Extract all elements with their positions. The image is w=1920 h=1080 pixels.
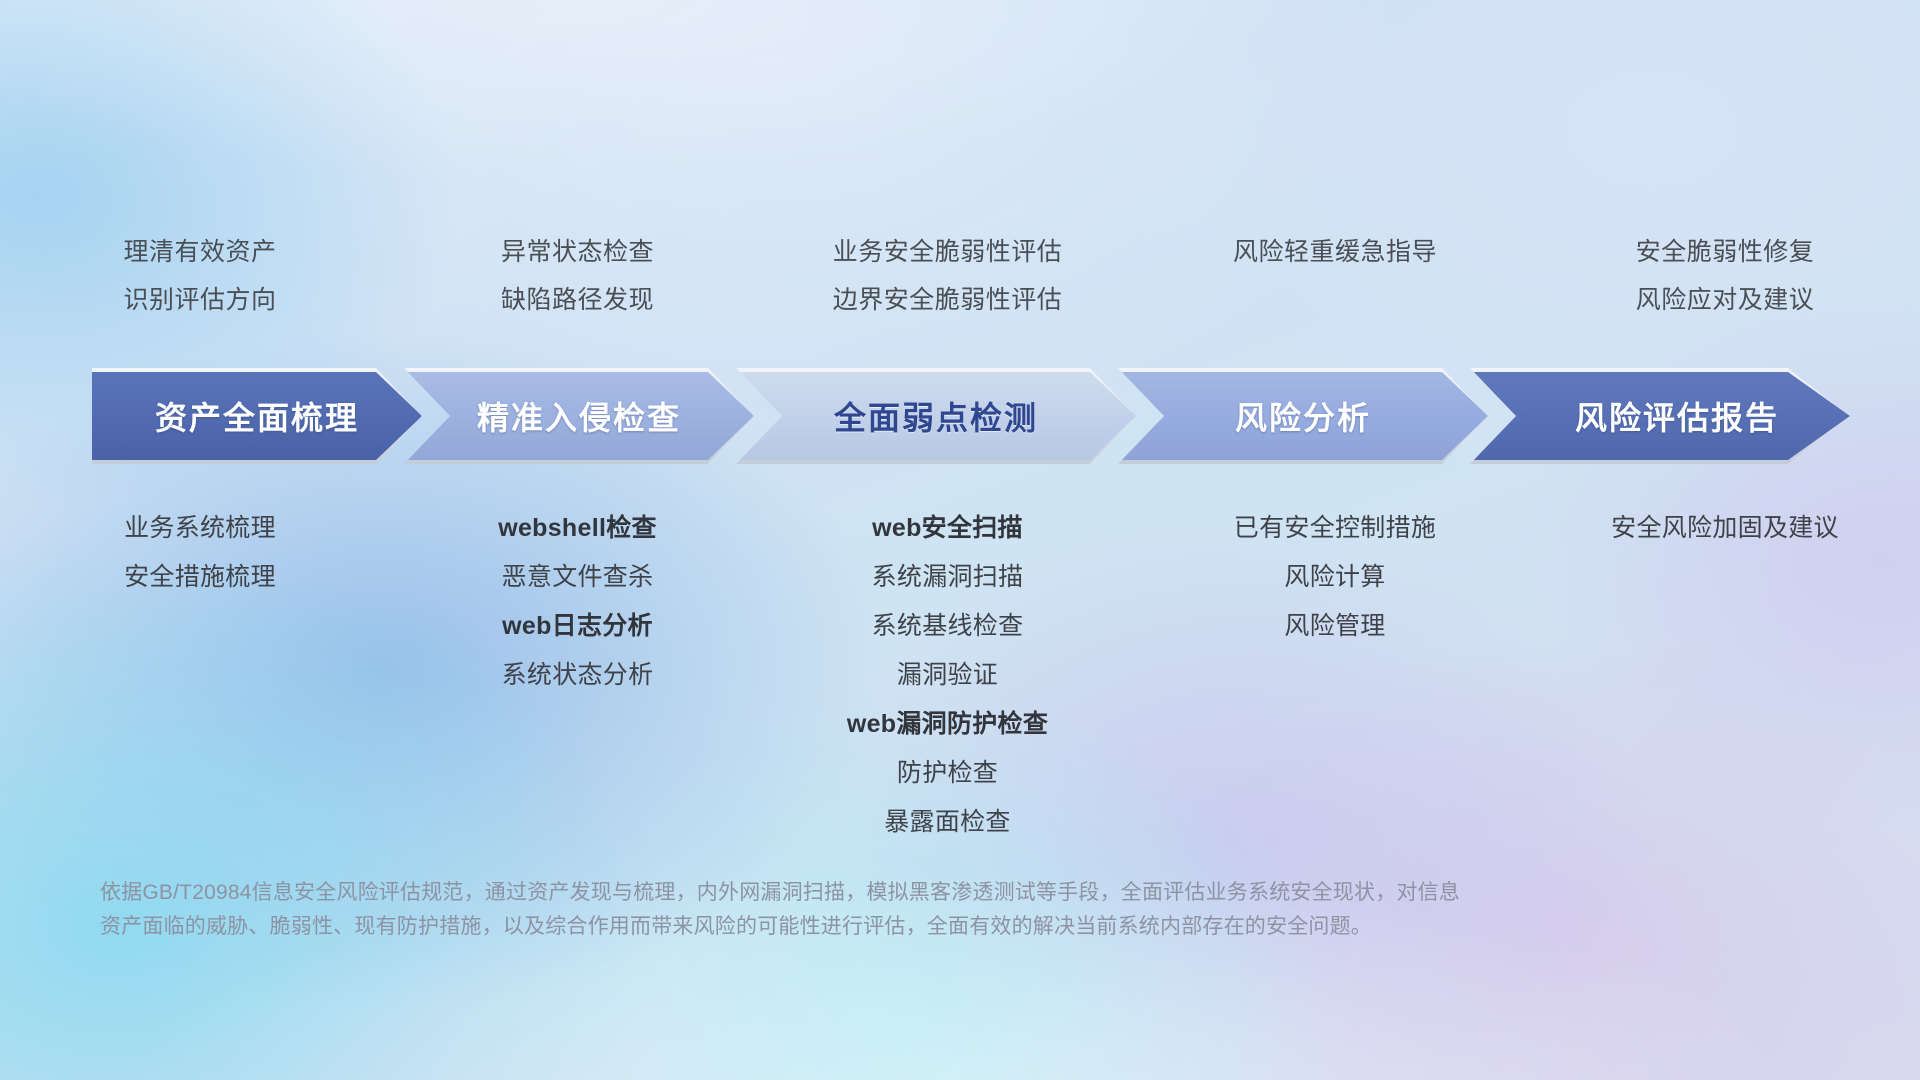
top-labels-col-5: 安全脆弱性修复 风险应对及建议: [1530, 228, 1920, 324]
list-item: 业务系统梳理: [0, 504, 400, 553]
stage-label: 全面弱点检测: [834, 393, 1038, 439]
top-label: 风险轻重缓急指导: [1140, 228, 1530, 276]
bottom-lists-row: 业务系统梳理 安全措施梳理 webshell检查 恶意文件查杀 web日志分析 …: [0, 504, 1920, 847]
stage-chevron-asset-inventory[interactable]: 资产全面梳理: [92, 368, 422, 464]
list-item: 安全措施梳理: [0, 553, 400, 602]
list-item: web安全扫描: [755, 504, 1140, 553]
process-diagram: 理清有效资产 识别评估方向 异常状态检查 缺陷路径发现 业务安全脆弱性评估 边界…: [0, 0, 1920, 1080]
bottom-list-col-3: web安全扫描 系统漏洞扫描 系统基线检查 漏洞验证 web漏洞防护检查 防护检…: [755, 504, 1140, 847]
list-item: web日志分析: [400, 602, 755, 651]
list-item: 风险管理: [1140, 602, 1530, 651]
top-label: 边界安全脆弱性评估: [755, 276, 1140, 324]
top-label: 业务安全脆弱性评估: [755, 228, 1140, 276]
list-item: 暴露面检查: [755, 798, 1140, 847]
top-labels-col-2: 异常状态检查 缺陷路径发现: [400, 228, 755, 324]
footer-line-1: 依据GB/T20984信息安全风险评估规范，通过资产发现与梳理，内外网漏洞扫描，…: [100, 876, 1740, 910]
list-item: 已有安全控制措施: [1140, 504, 1530, 553]
list-item: webshell检查: [400, 504, 755, 553]
list-item: 系统漏洞扫描: [755, 553, 1140, 602]
top-labels-col-4: 风险轻重缓急指导: [1140, 228, 1530, 324]
stage-chevron-weakness-detection[interactable]: 全面弱点检测: [736, 368, 1136, 464]
top-label: 安全脆弱性修复: [1530, 228, 1920, 276]
list-item: 系统基线检查: [755, 602, 1140, 651]
stage-chevron-risk-report[interactable]: 风险评估报告: [1470, 368, 1850, 464]
list-item: 防护检查: [755, 749, 1140, 798]
stage-chevron-risk-analysis[interactable]: 风险分析: [1118, 368, 1488, 464]
stage-label: 风险分析: [1235, 393, 1371, 439]
footer-note: 依据GB/T20984信息安全风险评估规范，通过资产发现与梳理，内外网漏洞扫描，…: [100, 876, 1740, 944]
bottom-list-col-4: 已有安全控制措施 风险计算 风险管理: [1140, 504, 1530, 847]
list-item: 系统状态分析: [400, 651, 755, 700]
bottom-list-col-2: webshell检查 恶意文件查杀 web日志分析 系统状态分析: [400, 504, 755, 847]
bottom-list-col-5: 安全风险加固及建议: [1530, 504, 1920, 847]
list-item: web漏洞防护检查: [755, 700, 1140, 749]
list-item: 风险计算: [1140, 553, 1530, 602]
bottom-list-col-1: 业务系统梳理 安全措施梳理: [0, 504, 400, 847]
stage-chevron-band: 资产全面梳理 精准入侵检查 全面弱点检测 风险分析 风险评估报告: [0, 368, 1920, 464]
stage-chevron-intrusion-check[interactable]: 精准入侵检查: [404, 368, 754, 464]
list-item: 漏洞验证: [755, 651, 1140, 700]
stage-label: 精准入侵检查: [477, 393, 681, 439]
top-labels-col-3: 业务安全脆弱性评估 边界安全脆弱性评估: [755, 228, 1140, 324]
list-item: 恶意文件查杀: [400, 553, 755, 602]
top-labels-col-1: 理清有效资产 识别评估方向: [0, 228, 400, 324]
top-label: 识别评估方向: [0, 276, 400, 324]
top-labels-row: 理清有效资产 识别评估方向 异常状态检查 缺陷路径发现 业务安全脆弱性评估 边界…: [0, 228, 1920, 324]
top-label: 缺陷路径发现: [400, 276, 755, 324]
top-label: 异常状态检查: [400, 228, 755, 276]
stage-label: 风险评估报告: [1541, 393, 1779, 439]
list-item: 安全风险加固及建议: [1530, 504, 1920, 553]
footer-line-2: 资产面临的威胁、脆弱性、现有防护措施，以及综合作用而带来风险的可能性进行评估，全…: [100, 910, 1740, 944]
top-label: 风险应对及建议: [1530, 276, 1920, 324]
stage-label: 资产全面梳理: [155, 393, 359, 439]
top-label: 理清有效资产: [0, 228, 400, 276]
